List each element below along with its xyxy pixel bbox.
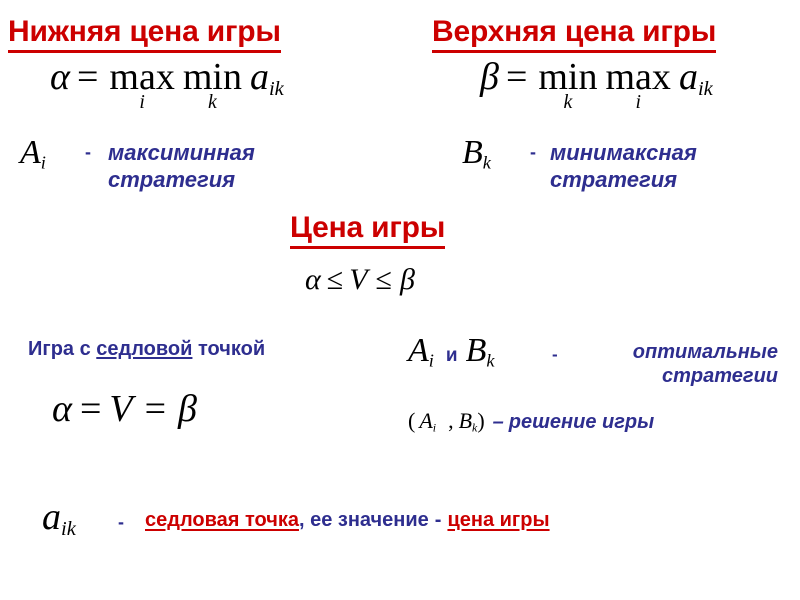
leq-sign-2: ≤ <box>376 263 392 296</box>
formula-alpha-maximin: α=maximinkaik <box>50 58 284 113</box>
formula-value-bounds: α≤V≤β <box>305 265 415 295</box>
slide-canvas: Нижняя цена игры Верхняя цена игры α=max… <box>0 0 800 600</box>
label-solution-of-game: решение игры <box>509 411 654 433</box>
strategy-A-base: A <box>20 134 41 171</box>
min-operator-k-2: mink <box>538 59 597 113</box>
max-label-2: max <box>606 59 671 95</box>
min-label: min <box>183 59 242 95</box>
min-label-2: min <box>538 59 597 95</box>
beta-symbol: β <box>480 56 499 98</box>
equals-sign-2: = <box>506 56 527 98</box>
solution-A-base: A <box>419 408 432 433</box>
min-subscript-k: k <box>208 93 217 113</box>
max-subscript-i-2: i <box>635 93 641 113</box>
max-label: max <box>109 59 174 95</box>
payoff-a-1: a <box>250 56 269 98</box>
strategy-B-subscript: k <box>483 153 491 173</box>
label-minimax-strategy: минимаксная стратегия <box>550 140 697 194</box>
label-saddle-point-line: седловая точка, ее значение-цена игры <box>145 508 550 532</box>
dash-separator-value: - <box>435 509 442 531</box>
heading-game-value-text: Цена игры <box>290 212 445 249</box>
label-value-of-game: цена игры <box>447 509 549 531</box>
label-optimal-line1: оптимальные <box>440 340 778 364</box>
payoff-subscript-ik-1: ik <box>269 78 284 100</box>
label-optimal-strategies: оптимальные стратегии <box>440 340 778 389</box>
beta-symbol-3: β <box>178 388 197 430</box>
solution-comma: , <box>448 408 454 433</box>
value-V-2: V <box>109 388 132 430</box>
payoff-a-3: a <box>42 496 61 538</box>
strategy-A-subscript: i <box>41 153 46 173</box>
solution-B-base: B <box>459 408 472 433</box>
solution-A-sub: i <box>433 421 436 435</box>
heading-lower-game-value-text: Нижняя цена игры <box>8 16 281 53</box>
symbol-strategy-A: Ai <box>20 136 46 170</box>
max-subscript-i: i <box>139 93 145 113</box>
equals-sign-3: = <box>80 388 101 430</box>
label-maximin-line2: стратегия <box>108 167 255 194</box>
solution-paren-close: ) <box>477 408 484 433</box>
solution-strategy-B: Bk <box>459 408 478 433</box>
max-operator-i: maxi <box>109 59 174 113</box>
payoff-a-2: a <box>679 56 698 98</box>
dash-separator-maximin: - <box>85 142 91 163</box>
heading-upper-game-value: Верхняя цена игры <box>432 16 716 53</box>
label-maximin-strategy: максиминная стратегия <box>108 140 255 194</box>
heading-game-value: Цена игры <box>290 212 445 249</box>
saddle-game-prefix: Игра с <box>28 338 96 360</box>
dash-separator-minimax: - <box>530 142 536 163</box>
solution-en-dash: – <box>493 411 504 433</box>
symbol-payoff-aik: aik <box>42 498 76 536</box>
formula-beta-minimax: β=minkmaxiaik <box>480 58 713 113</box>
saddle-game-underlined: седловой <box>96 338 192 360</box>
min-subscript-k-2: k <box>564 93 573 113</box>
solution-strategy-A: Ai <box>419 408 436 433</box>
heading-lower-game-value: Нижняя цена игры <box>8 16 281 53</box>
saddle-game-suffix: точкой <box>192 338 265 360</box>
alpha-symbol-3: α <box>52 388 72 430</box>
leq-sign-1: ≤ <box>327 263 343 296</box>
value-V-1: V <box>349 263 367 296</box>
symbol-strategy-B: Bk <box>462 136 491 170</box>
label-its-value: , ее значение <box>299 509 429 531</box>
formula-saddle-equality: α=V=β <box>52 390 197 428</box>
dash-separator-saddle: - <box>118 512 124 533</box>
label-saddle-point: седловая точка <box>145 509 299 531</box>
beta-symbol-2: β <box>400 263 415 296</box>
payoff-subscript-ik-3: ik <box>61 518 76 540</box>
equals-sign-4: = <box>145 388 166 430</box>
strategy-B-base: B <box>462 134 483 171</box>
label-game-with-saddle-point: Игра с седловой точкой <box>28 337 265 361</box>
strategy-A-subscript-2: i <box>429 351 434 371</box>
alpha-symbol: α <box>50 56 70 98</box>
solution-paren-open: ( <box>408 408 415 433</box>
label-minimax-line1: минимаксная <box>550 140 697 167</box>
strategy-A-base-2: A <box>408 332 429 369</box>
heading-upper-game-value-text: Верхняя цена игры <box>432 16 716 53</box>
min-operator-k: mink <box>183 59 242 113</box>
payoff-subscript-ik-2: ik <box>698 78 713 100</box>
equals-sign-1: = <box>77 56 98 98</box>
max-operator-i-2: maxi <box>606 59 671 113</box>
label-minimax-line2: стратегия <box>550 167 697 194</box>
label-maximin-line1: максиминная <box>108 140 255 167</box>
alpha-symbol-2: α <box>305 263 321 296</box>
row-solution-of-game: (Ai,Bk)–решение игры <box>408 408 654 434</box>
label-optimal-line2: стратегии <box>440 364 778 388</box>
